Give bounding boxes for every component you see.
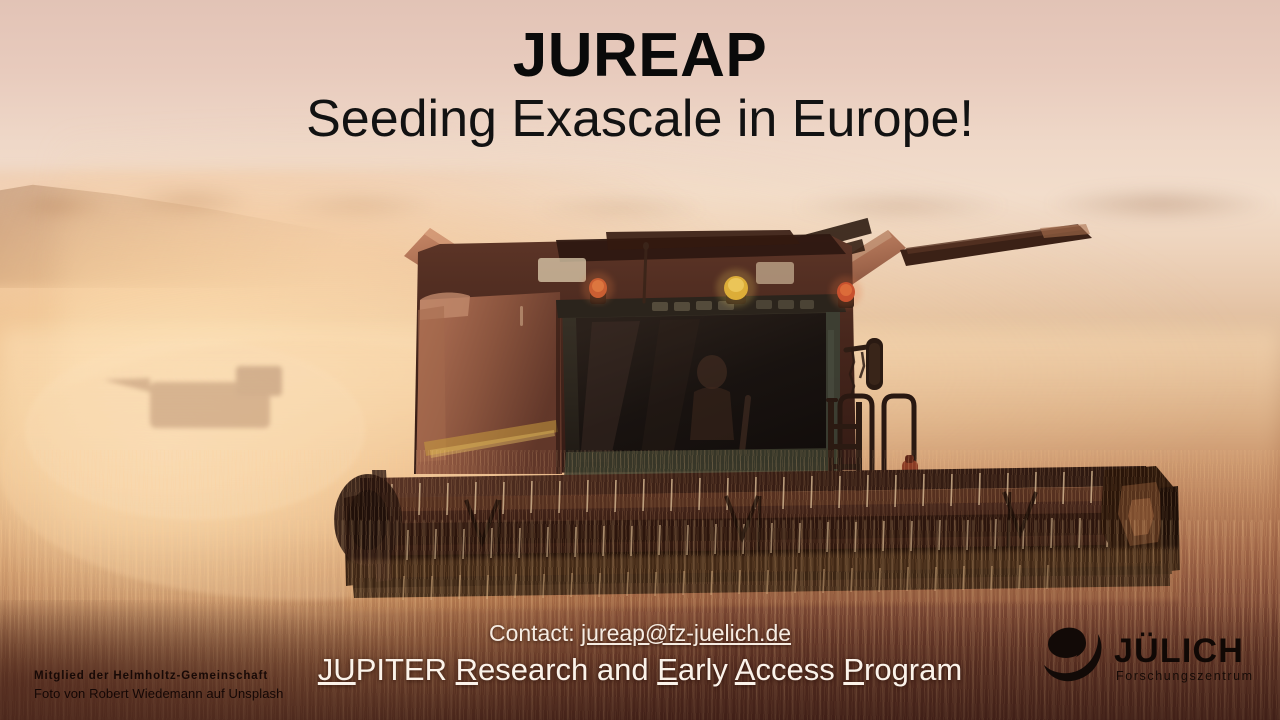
slide-canvas: JUREAP Seeding Exascale in Europe! Conta… [0,0,1280,720]
tagline-text: PITER [356,652,456,687]
tagline-text: arly [678,652,735,687]
tagline-text: rogram [864,652,962,687]
acronym-letter: R [456,652,478,687]
juelich-subline: Forschungszentrum [1116,669,1254,683]
acronym-letter: JU [318,652,356,687]
contact-email-link[interactable]: jureap@fz-juelich.de [581,620,791,646]
contact-label: Contact: [489,620,575,646]
acronym-letter: P [843,652,864,687]
acronym-letter: E [657,652,678,687]
credits-block: Mitglied der Helmholtz-Gemeinschaft Foto… [34,668,284,704]
tagline-text: esearch and [478,652,657,687]
helmholtz-membership-text: Mitglied der Helmholtz-Gemeinschaft [34,668,284,685]
juelich-logo: JÜLICH Forschungszentrum [1036,620,1268,692]
juelich-comma-icon [1048,628,1086,658]
juelich-wordmark: JÜLICH [1114,632,1244,670]
acronym-letter: A [735,652,756,687]
tagline-text: ccess [755,652,843,687]
photo-credit-text: Foto von Robert Wiedemann auf Unsplash [34,685,284,704]
